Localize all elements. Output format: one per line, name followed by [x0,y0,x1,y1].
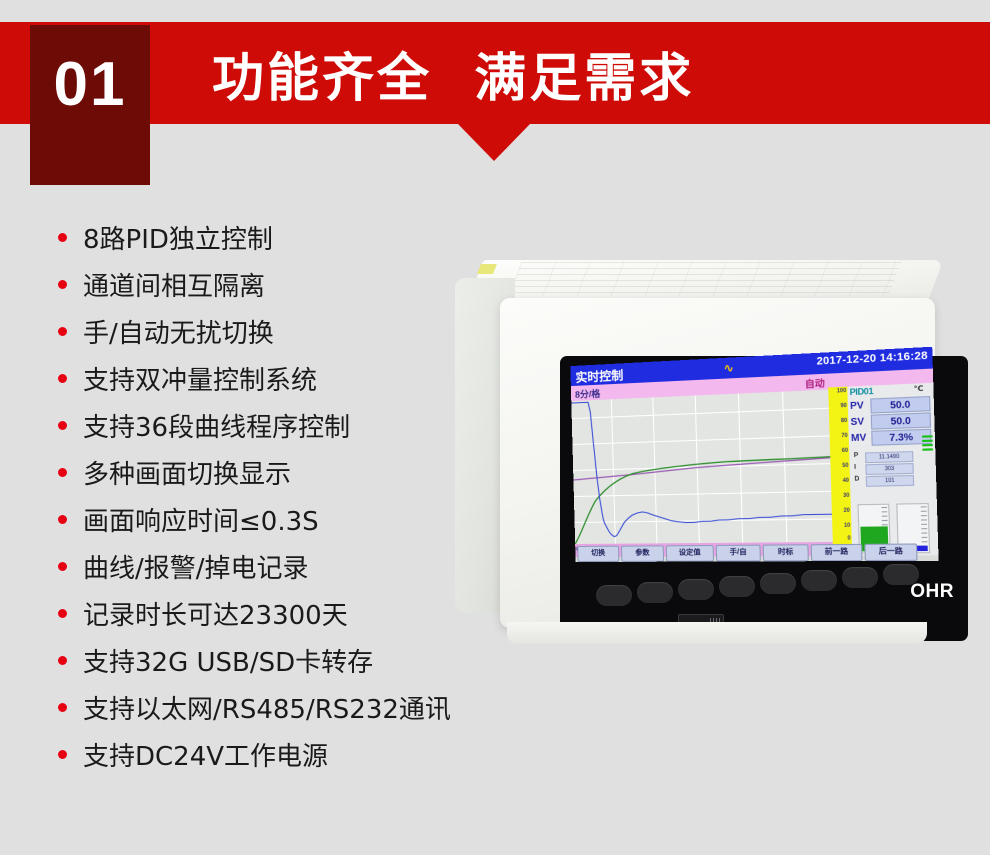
hardware-button-6[interactable] [801,570,837,591]
pv-label: PV [850,400,864,411]
page-title: 功能齐全 满足需求 [212,36,694,111]
y-tick: 10 [844,524,850,529]
device-bottom-edge [507,622,927,644]
device-screen-bezel: 实时控制 ∿ 2017-12-20 14:16:28 8分/格 自动 [560,356,968,641]
feature-text: 曲线/报警/掉电记录 [83,548,309,585]
feature-text: 画面响应时间≤0.3S [83,501,319,538]
paperless-recorder-device: 实时控制 ∿ 2017-12-20 14:16:28 8分/格 自动 [455,250,975,680]
d-value: 101 [866,475,914,487]
control-mode-label: 自动 [805,376,825,391]
screen-soft-button-bar: 切换 参数 设定值 手/自 时标 前一路 后一路 [575,543,938,562]
hardware-button-5[interactable] [760,573,796,594]
feature-text: 支持36段曲线程序控制 [83,407,350,444]
sv-value: 50.0 [871,412,931,429]
y-tick: 60 [842,449,848,455]
hardware-button-4[interactable] [719,576,755,597]
sv-label: SV [850,416,864,427]
soft-button-prev-channel[interactable]: 前一路 [811,544,863,561]
pid-param-p: P 11.1490 [854,451,916,462]
feature-text: 支持双冲量控制系统 [83,360,317,397]
feature-text: 支持32G USB/SD卡转存 [83,642,373,679]
mv-label: MV [851,432,867,443]
soft-button-params[interactable]: 参数 [621,545,664,562]
pid-param-i: I 303 [854,463,916,474]
pid-side-panel: PID01 ℃ PV 50.0 SV 50.0 MV 7.3% [847,383,938,556]
device-front-body: 实时控制 ∿ 2017-12-20 14:16:28 8分/格 自动 [500,298,935,628]
bullet-dot-icon [58,609,67,618]
y-tick: 30 [843,494,849,499]
list-item: 支持DC24V工作电源 [58,731,528,778]
y-tick: 90 [840,404,846,410]
bullet-dot-icon [58,233,67,242]
bullet-dot-icon [58,327,67,336]
pid-channel-label: PID01 [850,387,874,398]
bullet-dot-icon [58,703,67,712]
list-item: 支持以太网/RS485/RS232通讯 [58,684,528,731]
p-label: P [854,453,859,460]
pv-trace [573,457,833,544]
hardware-button-7[interactable] [842,567,878,588]
bullet-dot-icon [58,562,67,571]
y-tick: 100 [837,389,847,395]
status-led-bars [922,435,933,453]
trend-curves [571,390,832,544]
bullet-dot-icon [58,280,67,289]
soft-button-setpoint[interactable]: 设定值 [666,545,714,562]
d-label: D [854,476,859,483]
bullet-dot-icon [58,468,67,477]
hardware-button-2[interactable] [637,582,673,603]
brand-logo: OHR [910,581,954,603]
bullet-dot-icon [58,374,67,383]
bullet-dot-icon [58,750,67,759]
bullet-dot-icon [58,515,67,524]
pid-row-pv: PV 50.0 [850,396,933,413]
feature-text: 记录时长可达23300天 [83,595,348,632]
y-tick: 20 [843,509,849,514]
soft-button-switch[interactable]: 切换 [577,546,619,562]
trend-plot-area [571,390,832,544]
i-label: I [854,465,856,471]
y-tick: 40 [843,479,849,484]
hardware-button-1[interactable] [596,585,632,606]
y-tick: 0 [847,536,850,541]
p-value: 11.1490 [865,451,913,463]
pid-row-sv: SV 50.0 [850,412,933,429]
soft-button-timemark[interactable]: 时标 [763,544,809,561]
device-lcd-screen[interactable]: 实时控制 ∿ 2017-12-20 14:16:28 8分/格 自动 [570,347,938,562]
section-number: 01 [30,25,150,143]
feature-text: 8路PID独立控制 [83,219,273,256]
feature-text: 支持DC24V工作电源 [83,736,328,773]
soft-button-manual-auto[interactable]: 手/自 [716,545,761,562]
device-top-printing [508,262,901,296]
hardware-button-3[interactable] [678,579,714,600]
y-tick: 70 [841,434,847,440]
sv-trace [573,458,831,480]
pv-value: 50.0 [870,396,930,414]
feature-text: 通道间相互隔离 [83,266,265,303]
feature-text: 多种画面切换显示 [83,454,291,491]
pid-unit-label: ℃ [914,384,924,393]
soft-button-next-channel[interactable]: 后一路 [864,543,917,561]
i-value: 303 [865,463,913,475]
wave-icon: ∿ [723,360,734,375]
time-scale-label: 8分/格 [575,387,601,401]
bullet-dot-icon [58,656,67,665]
pid-param-d: D 101 [854,475,916,486]
y-tick: 50 [842,464,848,470]
feature-text: 支持以太网/RS485/RS232通讯 [83,689,451,726]
y-tick: 80 [841,419,847,425]
bullet-dot-icon [58,421,67,430]
feature-text: 手/自动无扰切换 [83,313,274,350]
header-arrow-notch [458,124,530,161]
